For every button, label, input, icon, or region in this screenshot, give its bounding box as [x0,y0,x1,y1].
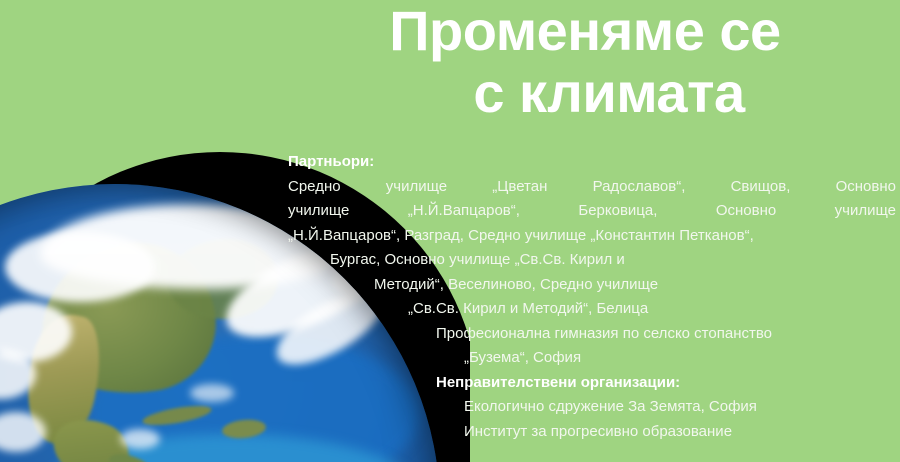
partners-line-3: „Н.Й.Вапцаров“, Разград, Средно училище … [288,224,896,249]
partners-line-1: Средно училище „Цветан Радославов“, Свищ… [288,175,896,200]
poster-title: Променяме се с климата [280,0,890,124]
partners-line-7: Професионална гимназия по селско стопанс… [288,322,896,347]
partners-line-4: Бургас, Основно училище „Св.Св. Кирил и [288,248,896,273]
partners-heading: Партньори: [288,150,896,175]
partners-line-2: училище „Н.Й.Вапцаров“, Берковица, Основ… [288,199,896,224]
partners-line-5: Методий“, Веселиново, Средно училище [288,273,896,298]
title-line-2: с климата [280,62,890,124]
poster-canvas: Променяме се с климата Партньори: Средно… [0,0,900,462]
title-line-1: Променяме се [280,0,890,62]
partners-line-8: „Бузема“, София [288,346,896,371]
partners-line-6: „Св.Св. Кирил и Методий“, Белица [288,297,896,322]
cloud-polar-west [5,232,155,302]
ngos-line-1: Екологично сдружение За Земята, София [288,395,896,420]
cloud-speck-4 [120,429,160,449]
cloud-speck-5 [190,384,234,402]
poster-body: Партньори: Средно училище „Цветан Радосл… [288,150,896,444]
ngos-line-2: Институт за прогресивно образование [288,420,896,445]
ngos-heading: Неправителствени организации: [288,371,896,396]
